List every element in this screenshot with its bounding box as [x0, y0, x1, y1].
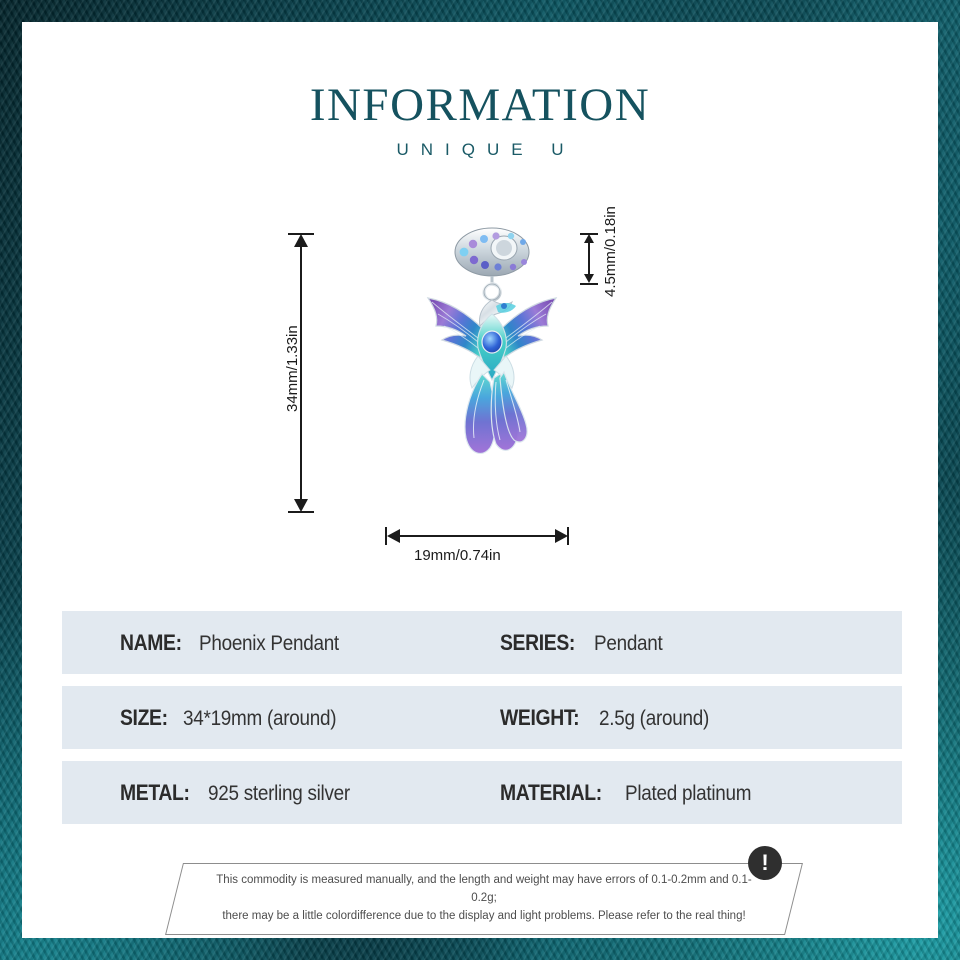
product-diagram: 34mm/1.33in 4.5mm/0.18in 19mm/0.74in — [22, 197, 938, 587]
spec-value: 925 sterling silver — [208, 782, 350, 806]
table-row: NAME: Phoenix Pendant SERIES: Pendant — [62, 611, 902, 674]
white-content-card: INFORMATION UNIQUE U 34mm/1.33in 4.5mm/0… — [22, 22, 938, 938]
spec-cell-size: SIZE: 34*19mm (around) — [62, 705, 500, 731]
height-dimension-label: 34mm/1.33in — [284, 325, 301, 412]
page-title: INFORMATION — [22, 82, 938, 129]
disclaimer-line-1: This commodity is measured manually, and… — [208, 872, 760, 908]
product-information-graphic: INFORMATION UNIQUE U 34mm/1.33in 4.5mm/0… — [0, 0, 960, 960]
jump-ring — [484, 276, 500, 300]
spec-value: Phoenix Pendant — [199, 632, 339, 656]
spec-key: METAL: — [120, 780, 190, 806]
spec-cell-weight: WEIGHT: 2.5g (around) — [500, 705, 902, 731]
spec-key: NAME: — [120, 630, 182, 656]
spec-value: Pendant — [594, 632, 663, 656]
spec-cell-name: NAME: Phoenix Pendant — [62, 630, 500, 656]
spec-key: MATERIAL: — [500, 780, 602, 806]
disclaimer-line-2: there may be a little colordifference du… — [222, 908, 745, 926]
table-row: METAL: 925 sterling silver MATERIAL: Pla… — [62, 761, 902, 824]
disclaimer-text: This commodity is measured manually, and… — [174, 863, 794, 935]
bail-bead — [455, 228, 529, 276]
spec-key: SERIES: — [500, 630, 575, 656]
phoenix-pendant-svg — [412, 222, 572, 522]
spec-value: 2.5g (around) — [599, 707, 709, 731]
spec-cell-series: SERIES: Pendant — [500, 630, 902, 656]
spec-table: NAME: Phoenix Pendant SERIES: Pendant SI… — [62, 611, 902, 836]
spec-cell-material: MATERIAL: Plated platinum — [500, 780, 902, 806]
phoenix-pendant-image — [412, 222, 572, 522]
spec-key: SIZE: — [120, 705, 168, 731]
bail-dimension-label: 4.5mm/0.18in — [602, 206, 619, 297]
page-subtitle: UNIQUE U — [22, 140, 938, 160]
disclaimer-banner: This commodity is measured manually, and… — [174, 863, 794, 935]
spec-key: WEIGHT: — [500, 705, 579, 731]
exclamation-icon: ! — [748, 846, 782, 880]
spec-value: Plated platinum — [625, 782, 751, 806]
width-dimension-label: 19mm/0.74in — [414, 547, 501, 564]
spec-value: 34*19mm (around) — [183, 707, 336, 731]
spec-cell-metal: METAL: 925 sterling silver — [62, 780, 500, 806]
table-row: SIZE: 34*19mm (around) WEIGHT: 2.5g (aro… — [62, 686, 902, 749]
